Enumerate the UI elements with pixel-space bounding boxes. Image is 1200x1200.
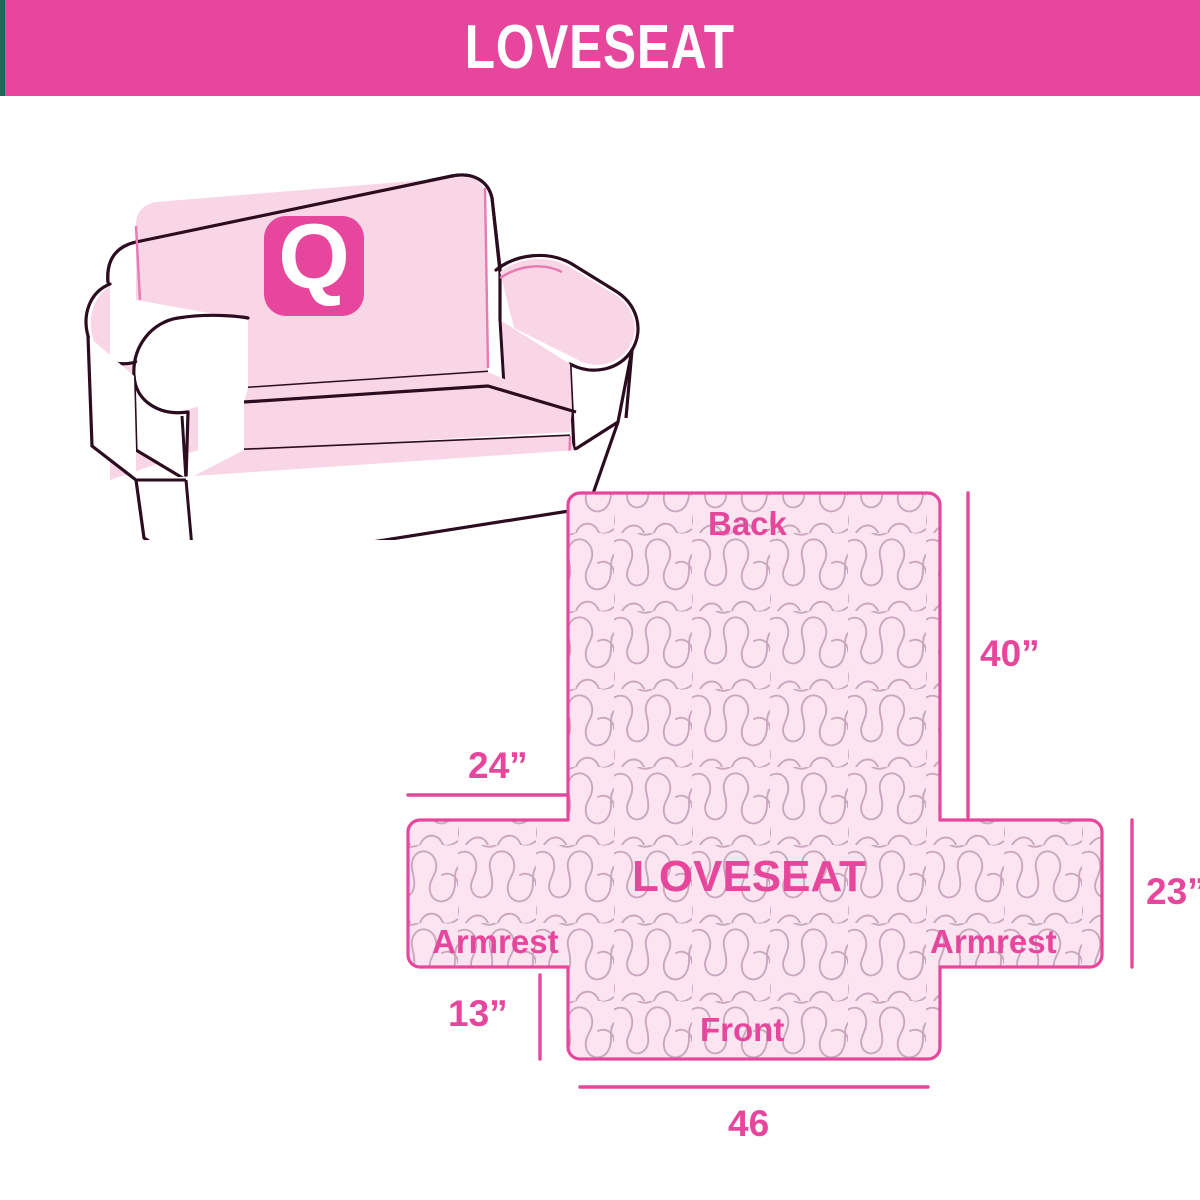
header-banner: LOVESEAT xyxy=(0,0,1200,96)
panel-label-armrest-left: Armrest xyxy=(432,925,559,958)
page-title: LOVESEAT xyxy=(465,17,735,79)
dimension-label-front-width: 46 xyxy=(728,1105,769,1142)
cover-dimension-diagram: Back LOVESEAT Armrest Armrest Front 40” … xyxy=(380,455,1200,1155)
diagram-center-label: LOVESEAT xyxy=(632,855,866,899)
panel-label-back: Back xyxy=(708,507,787,540)
dimension-label-back-offset: 24” xyxy=(468,747,528,784)
svg-text:Q: Q xyxy=(278,206,350,308)
dimension-label-front-drop: 13” xyxy=(448,995,508,1032)
header-accent-strip xyxy=(0,0,5,96)
brand-logo: Q xyxy=(264,206,364,316)
panel-label-armrest-right: Armrest xyxy=(930,925,1057,958)
panel-label-front: Front xyxy=(700,1013,784,1046)
product-size-chart-page: LOVESEAT xyxy=(0,0,1200,1200)
dimension-label-back-height: 40” xyxy=(980,635,1040,672)
dimension-label-armrest-depth: 23” xyxy=(1146,873,1200,910)
